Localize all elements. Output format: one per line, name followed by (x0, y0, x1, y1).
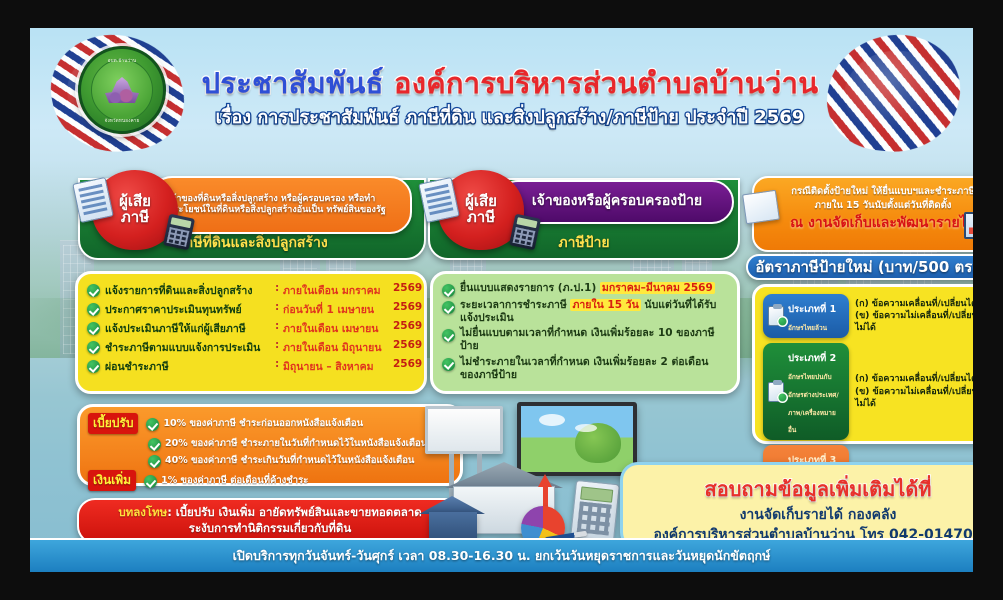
emblem-artwork-icon (105, 77, 139, 103)
land-tax-schedule-card: แจ้งรายการที่ดินและสิ่งปลูกสร้าง:ภายในเด… (75, 271, 427, 394)
growth-arrow-icon (538, 474, 552, 487)
penalty-row: เงินเพิ่ม1% ของค่าภาษี ต่อเดือนที่ค้างชำ… (88, 470, 452, 491)
sign-tax-item-label: ไม่ชำระภายในเวลาที่กำหนด เงินเพิ่มร้อยละ… (460, 356, 728, 382)
organization-emblem: อบต.บ้านว่าน จังหวัดหนองคาย (78, 46, 166, 134)
new-sign-notice-panel: กรณีติดตั้งป้ายใหม่ ให้ยื่นแบบฯและชำระภา… (752, 176, 973, 252)
schedule-separator: : (275, 358, 283, 370)
sign-tax-payer-badge: ผู้เสีย ภาษี (438, 170, 524, 250)
poster-subtitle: เรื่อง การประชาสัมพันธ์ ภาษีที่ดิน และสิ… (180, 102, 840, 131)
schedule-task: ชำระภาษีตามแบบแจ้งการประเมิน (105, 339, 275, 356)
contact-card: สอบถามข้อมูลเพิ่มเติมได้ที่ งานจัดเก็บรา… (620, 462, 973, 550)
rate-line: (ก) ข้อความเคลื่อนที่/เปลี่ยนได้10 (855, 297, 973, 310)
sign-tax-item-label: ระยะเวลาการชำระภาษี ภายใน 15 วัน นับแต่ว… (460, 299, 728, 325)
rate-table-header: อัตราภาษีป้ายใหม่ (บาท/500 ตร.ซม.) (746, 254, 973, 280)
schedule-task: ผ่อนชำระภาษี (105, 358, 275, 375)
schedule-separator: : (275, 339, 283, 351)
poster-title-block: ประชาสัมพันธ์ องค์การบริหารส่วนตำบลบ้านว… (180, 68, 840, 131)
contact-line1: งานจัดเก็บรายได้ กองคลัง (633, 505, 973, 525)
land-tax-schedule-list: แจ้งรายการที่ดินและสิ่งปลูกสร้าง:ภายในเด… (87, 282, 415, 375)
document-icon (418, 177, 460, 223)
sign-tax-payer-description: เจ้าของหรือผู้ครอบครองป้าย (532, 193, 702, 210)
sign-tax-item: ยื่นแบบแสดงรายการ (ภ.ป.1) มกราคม–มีนาคม … (442, 282, 728, 297)
rate-category-text: ประเภทที่ 1อักษรไทยล้วน (788, 298, 836, 334)
sign-tax-section-title: ภาษีป้าย (558, 232, 609, 254)
check-icon (87, 341, 100, 354)
new-sign-notice-line1: กรณีติดตั้งป้ายใหม่ ให้ยื่นแบบฯและชำระภา… (764, 185, 973, 199)
check-icon (442, 329, 455, 342)
item-text-pre: ไม่ยื่นแบบตามเวลาที่กำหนด เงินเพิ่มร้อยล… (460, 327, 715, 352)
new-sign-notice-line2: ภายใน 15 วันนับตั้งแต่วันที่ติดตั้ง (764, 199, 973, 213)
penalty-text: 40% ของค่าภาษี ชำระเกินวันที่กำหนดไว้ในห… (165, 453, 414, 468)
rate-table-header-label: อัตราภาษีป้ายใหม่ (บาท/500 ตร.ซม.) (755, 255, 973, 279)
schedule-separator: : (275, 301, 283, 313)
penalty-row: เบี้ยปรับ10% ของค่าภาษี ชำระก่อนออกหนังส… (88, 413, 452, 434)
schedule-row-content: ประกาศราคาประเมินทุนทรัพย์:ก่อนวันที่ 1 … (105, 301, 422, 318)
sign-tax-item: ระยะเวลาการชำระภาษี ภายใน 15 วัน นับแต่ว… (442, 299, 728, 325)
clipboard-icon (768, 306, 784, 326)
footer-text: เปิดบริการทุกวันจันทร์-วันศุกร์ เวลา 08.… (233, 546, 771, 566)
schedule-year: 2569 (393, 339, 422, 351)
schedule-year: 2569 (393, 320, 422, 332)
penalty-tag: เงินเพิ่ม (88, 470, 136, 491)
check-icon (442, 358, 455, 371)
schedule-period: ภายในเดือน มกราคม (283, 282, 393, 299)
schedule-row: แจ้งประเมินภาษีให้แก่ผู้เสียภาษี:ภายในเด… (87, 320, 415, 337)
schedule-task: ประกาศราคาประเมินทุนทรัพย์ (105, 301, 275, 318)
rate-line: (ก) ข้อความเคลื่อนที่/เปลี่ยนได้52 (855, 373, 973, 386)
sign-rate-table: ประเภทที่ 1อักษรไทยล้วน(ก) ข้อความเคลื่อ… (752, 284, 973, 444)
check-icon (87, 360, 100, 373)
penalty-text: 1% ของค่าภาษี ต่อเดือนที่ค้างชำระ (161, 473, 308, 488)
rate-category-badge: ประเภทที่ 2อักษรไทยปนกับอักษรต่างประเทศ/… (763, 343, 849, 441)
sanction-tag: บทลงโทษ (118, 505, 167, 519)
schedule-row: ประกาศราคาประเมินทุนทรัพย์:ก่อนวันที่ 1 … (87, 301, 415, 318)
sign-tax-item: ไม่ยื่นแบบตามเวลาที่กำหนด เงินเพิ่มร้อยล… (442, 327, 728, 353)
emblem-top-text: อบต.บ้านว่าน (81, 57, 163, 64)
land-tax-payer-badge: ผู้เสีย ภาษี (92, 170, 178, 250)
item-text-pre: ไม่ชำระภายในเวลาที่กำหนด เงินเพิ่มร้อยละ… (460, 356, 708, 381)
rate-line-label: (ข) ข้อความไม่เคลื่อนที่/เปลี่ยนไม่ได้ (855, 310, 973, 334)
schedule-separator: : (275, 282, 283, 294)
land-tax-payer-description: เจ้าของที่ดินหรือสิ่งปลูกสร้าง หรือผู้คร… (168, 194, 401, 216)
poster-canvas: อบต.บ้านว่าน จังหวัดหนองคาย ประชาสัมพันธ… (30, 28, 973, 572)
check-icon (144, 475, 157, 488)
penalty-tag: เบี้ยปรับ (88, 413, 138, 434)
schedule-row: แจ้งรายการที่ดินและสิ่งปลูกสร้าง:ภายในเด… (87, 282, 415, 299)
chart-monitor-icon (964, 212, 973, 246)
schedule-row: ชำระภาษีตามแบบแจ้งการประเมิน:ภายในเดือน … (87, 339, 415, 356)
schedule-period: ก่อนวันที่ 1 เมษายน (283, 301, 393, 318)
penalty-list: เบี้ยปรับ10% ของค่าภาษี ชำระก่อนออกหนังส… (88, 413, 452, 491)
rate-line-label: (ข) ข้อความไม่เคลื่อนที่/เปลี่ยนไม่ได้ (855, 386, 973, 410)
rate-line-label: (ก) ข้อความเคลื่อนที่/เปลี่ยนได้ (855, 373, 973, 385)
rate-line: (ข) ข้อความไม่เคลื่อนที่/เปลี่ยนไม่ได้5 (855, 310, 973, 334)
rate-category-desc: อักษรไทยล้วน (788, 324, 827, 332)
check-icon (148, 438, 161, 451)
schedule-row: ผ่อนชำระภาษี:มิถุนายน – สิงหาคม2569 (87, 358, 415, 375)
sanction-line2: ระงับการทำนิติกรรมเกี่ยวกับที่ดิน (89, 521, 451, 537)
penalty-text: 20% ของค่าภาษี ชำระภายในวันที่กำหนดไว้ใน… (165, 436, 427, 451)
rate-line-group: (ก) ข้อความเคลื่อนที่/เปลี่ยนได้10(ข) ข้… (855, 297, 973, 334)
schedule-row-content: ชำระภาษีตามแบบแจ้งการประเมิน:ภายในเดือน … (105, 339, 422, 356)
rate-category-row: ประเภทที่ 1อักษรไทยล้วน(ก) ข้อความเคลื่อ… (763, 294, 973, 338)
land-tax-section-title: ภาษีที่ดินและสิ่งปลูกสร้าง (176, 232, 327, 254)
rate-line: (ข) ข้อความไม่เคลื่อนที่/เปลี่ยนไม่ได้26 (855, 386, 973, 410)
item-text-highlight: ภายใน 15 วัน (570, 299, 640, 311)
paper-icon (742, 190, 780, 224)
rate-category-name: ประเภทที่ 2 (788, 353, 836, 364)
item-text-pre: ระยะเวลาการชำระภาษี (460, 299, 570, 311)
check-icon (148, 455, 161, 468)
check-icon (87, 303, 100, 316)
monitor-screen (964, 212, 973, 239)
check-icon (442, 301, 455, 314)
payer-badge-line2: ภาษี (467, 210, 495, 226)
schedule-row-content: แจ้งประเมินภาษีให้แก่ผู้เสียภาษี:ภายในเด… (105, 320, 422, 337)
rate-category-text: ประเภทที่ 2อักษรไทยปนกับอักษรต่างประเทศ/… (788, 347, 844, 437)
payer-badge-line2: ภาษี (121, 210, 149, 226)
penalty-card: เบี้ยปรับ10% ของค่าภาษี ชำระก่อนออกหนังส… (77, 404, 463, 486)
sanction-text1: : เบี้ยปรับ เงินเพิ่ม อายัดทรัพย์สินและข… (167, 505, 421, 519)
schedule-separator: : (275, 320, 283, 332)
schedule-year: 2569 (393, 358, 422, 370)
schedule-period: มิถุนายน – สิงหาคม (283, 358, 393, 375)
sign-tax-item-label: ยื่นแบบแสดงรายการ (ภ.ป.1) มกราคม–มีนาคม … (460, 282, 715, 295)
schedule-year: 2569 (393, 301, 422, 313)
item-text-pre: ยื่นแบบแสดงรายการ (ภ.ป.1) (460, 282, 600, 294)
emblem-inner-disc (91, 59, 153, 121)
check-icon (146, 418, 159, 431)
schedule-row-content: ผ่อนชำระภาษี:มิถุนายน – สิงหาคม2569 (105, 358, 422, 375)
rate-line-label: (ก) ข้อความเคลื่อนที่/เปลี่ยนได้ (855, 298, 973, 310)
sanction-line1: บทลงโทษ: เบี้ยปรับ เงินเพิ่ม อายัดทรัพย์… (89, 505, 451, 521)
contact-heading: สอบถามข้อมูลเพิ่มเติมได้ที่ (633, 473, 973, 505)
schedule-task: แจ้งรายการที่ดินและสิ่งปลูกสร้าง (105, 282, 275, 299)
emblem-bottom-text: จังหวัดหนองคาย (81, 117, 163, 124)
penalty-row: 40% ของค่าภาษี ชำระเกินวันที่กำหนดไว้ในห… (88, 453, 452, 468)
check-icon (87, 322, 100, 335)
penalty-text: 10% ของค่าภาษี ชำระก่อนออกหนังสือแจ้งเตื… (163, 416, 363, 431)
rate-category-badge: ประเภทที่ 1อักษรไทยล้วน (763, 294, 849, 338)
title-part-1: ประชาสัมพันธ์ (202, 66, 394, 100)
rate-category-desc: อักษรไทยปนกับอักษรต่างประเทศ/ภาพ/เครื่อง… (788, 373, 839, 435)
footer-bar: เปิดบริการทุกวันจันทร์-วันศุกร์ เวลา 08.… (30, 538, 973, 572)
schedule-task: แจ้งประเมินภาษีให้แก่ผู้เสียภาษี (105, 320, 275, 337)
clipboard-icon (768, 382, 784, 402)
item-text-highlight: มกราคม–มีนาคม 2569 (600, 282, 715, 294)
title-part-2: องค์การบริหารส่วนตำบลบ้านว่าน (394, 66, 818, 100)
rate-category-row: ประเภทที่ 2อักษรไทยปนกับอักษรต่างประเทศ/… (763, 343, 973, 441)
blank-billboard-icon (425, 406, 503, 454)
schedule-year: 2569 (393, 282, 422, 294)
rate-category-name: ประเภทที่ 1 (788, 304, 836, 315)
new-sign-notice-line3: ณ งานจัดเก็บและพัฒนารายได้ (764, 214, 973, 232)
schedule-period: ภายในเดือน เมษายน (283, 320, 393, 337)
schedule-period: ภายในเดือน มิถุนายน (283, 339, 393, 356)
rate-line-group: (ก) ข้อความเคลื่อนที่/เปลี่ยนได้52(ข) ข้… (855, 373, 973, 410)
poster-title: ประชาสัมพันธ์ องค์การบริหารส่วนตำบลบ้านว… (180, 68, 840, 100)
schedule-row-content: แจ้งรายการที่ดินและสิ่งปลูกสร้าง:ภายในเด… (105, 282, 422, 299)
sign-tax-item: ไม่ชำระภายในเวลาที่กำหนด เงินเพิ่มร้อยละ… (442, 356, 728, 382)
led-billboard-icon (517, 402, 637, 476)
check-icon (442, 284, 455, 297)
document-icon (72, 177, 114, 223)
sign-tax-item-list: ยื่นแบบแสดงรายการ (ภ.ป.1) มกราคม–มีนาคม … (442, 282, 728, 382)
sign-tax-info-card: ยื่นแบบแสดงรายการ (ภ.ป.1) มกราคม–มีนาคม … (430, 271, 740, 394)
check-icon (87, 284, 100, 297)
sign-tax-item-label: ไม่ยื่นแบบตามเวลาที่กำหนด เงินเพิ่มร้อยล… (460, 327, 728, 353)
penalty-row: 20% ของค่าภาษี ชำระภายในวันที่กำหนดไว้ใน… (88, 436, 452, 451)
